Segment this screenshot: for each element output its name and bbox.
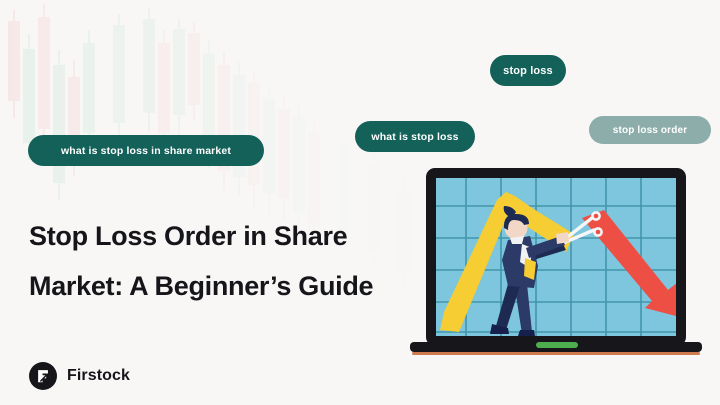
firstock-arrow-logo-icon (29, 362, 57, 390)
brand-logo[interactable]: Firstock (29, 362, 130, 390)
brand-name: Firstock (67, 367, 130, 385)
keyword-pill-label: stop loss order (613, 125, 688, 136)
keyword-pill-label: stop loss (503, 65, 553, 77)
keyword-pill-stop-loss[interactable]: stop loss (490, 55, 566, 86)
keyword-pill-what-is-stop-loss[interactable]: what is stop loss (355, 121, 475, 152)
page-title: Stop Loss Order in Share Market: A Begin… (29, 211, 389, 311)
stop-loss-laptop-illustration (396, 162, 716, 366)
keyword-pill-label: what is stop loss (371, 131, 458, 143)
keyword-pill-label: what is stop loss in share market (61, 145, 231, 157)
keyword-pill-what-is-stop-loss-in-share-market[interactable]: what is stop loss in share market (28, 135, 264, 166)
hero-banner: what is stop loss in share market stop l… (0, 0, 720, 405)
keyword-pill-stop-loss-order[interactable]: stop loss order (589, 116, 711, 144)
